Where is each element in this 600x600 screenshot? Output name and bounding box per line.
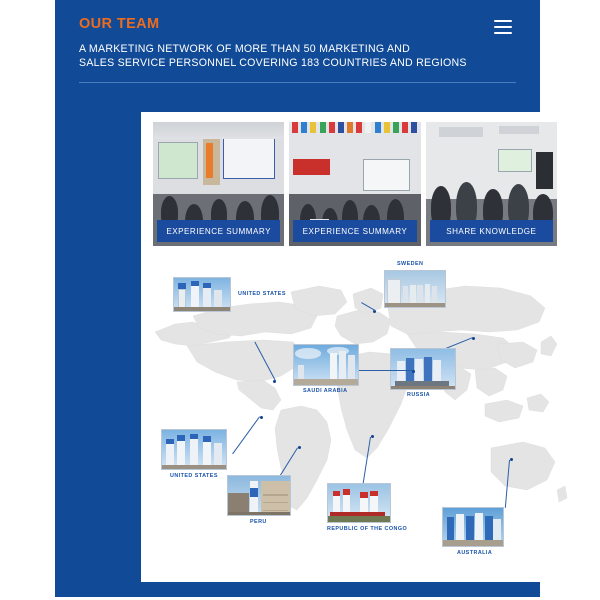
- grey-silo-plant-image: [385, 271, 445, 307]
- map-thumb-russia[interactable]: [390, 348, 456, 390]
- map-label-sweden: SWEDEN: [397, 261, 423, 267]
- map-label-russia: RUSSIA: [407, 392, 430, 398]
- leader-line-saudi-arabia: [356, 370, 412, 371]
- photo-card-2[interactable]: EXPERIENCE SUMMARY: [289, 122, 420, 246]
- map-thumb-united-states-alaska[interactable]: [173, 277, 231, 312]
- page-header: OUR TEAM A MARKETING NETWORK OF MORE THA…: [79, 14, 516, 83]
- photo-gallery: EXPERIENCE SUMMARY: [153, 122, 557, 246]
- map-label-united-states: UNITED STATES: [170, 473, 218, 479]
- page-title: OUR TEAM: [79, 14, 516, 34]
- photo-caption-2: EXPERIENCE SUMMARY: [293, 220, 416, 242]
- page-panel: OUR TEAM A MARKETING NETWORK OF MORE THA…: [55, 0, 540, 597]
- white-silo-plant-image: [294, 345, 358, 385]
- map-label-saudi-arabia: SAUDI ARABIA: [303, 388, 347, 394]
- content-card: EXPERIENCE SUMMARY: [141, 112, 569, 582]
- map-thumb-saudi-arabia[interactable]: [293, 344, 359, 386]
- blue-batching-plant-image: [443, 508, 503, 546]
- flag-banner: [289, 122, 420, 154]
- header-divider: [79, 82, 516, 83]
- menu-bar-2: [494, 26, 512, 28]
- blue-mixing-plant-image: [391, 349, 455, 389]
- world-map-section: UNITED STATES: [141, 258, 569, 580]
- map-thumb-australia[interactable]: [442, 507, 504, 547]
- hamburger-menu-icon[interactable]: [494, 20, 512, 34]
- photo-card-1[interactable]: EXPERIENCE SUMMARY: [153, 122, 284, 246]
- map-thumb-sweden[interactable]: [384, 270, 446, 308]
- page-subtitle: A MARKETING NETWORK OF MORE THAN 50 MARK…: [79, 43, 516, 70]
- urban-silo-plant-image: [228, 476, 290, 515]
- red-white-mobile-plant-image: [328, 484, 390, 522]
- map-label-peru: PERU: [250, 519, 267, 525]
- map-label-australia: AUSTRALIA: [457, 550, 492, 556]
- photo-caption-3: SHARE KNOWLEDGE: [430, 220, 553, 242]
- blue-concrete-batching-plant-image: [174, 278, 230, 311]
- map-thumb-peru[interactable]: [227, 475, 291, 516]
- map-label-republic-of-the-congo: REPUBLIC OF THE CONGO: [327, 526, 407, 532]
- photo-caption-1: EXPERIENCE SUMMARY: [157, 220, 280, 242]
- map-label-united-states-alaska: UNITED STATES: [238, 291, 286, 297]
- map-thumb-republic-of-the-congo[interactable]: [327, 483, 391, 523]
- menu-bar-3: [494, 32, 512, 34]
- photo-card-3[interactable]: SHARE KNOWLEDGE: [426, 122, 557, 246]
- menu-bar-1: [494, 20, 512, 22]
- map-thumb-united-states[interactable]: [161, 429, 227, 470]
- blue-white-silo-plant-image: [162, 430, 226, 469]
